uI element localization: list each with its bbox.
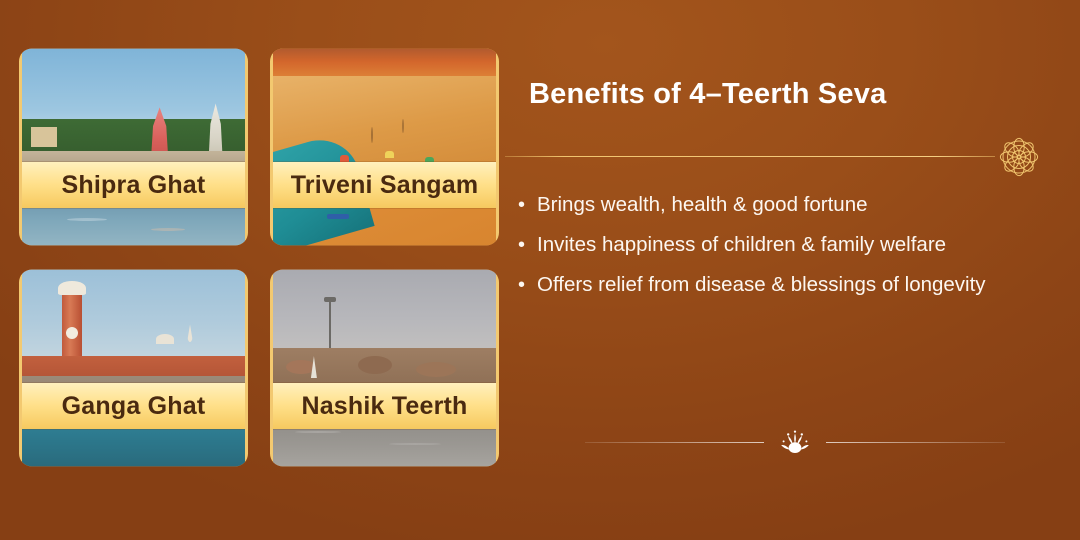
benefit-text: Invites happiness of children & family w…	[537, 225, 1048, 265]
card-caption-label: Ganga Ghat	[62, 394, 206, 419]
tent-shape	[385, 151, 394, 158]
benefits-list: • Brings wealth, health & good fortune •…	[518, 185, 1048, 305]
card-clip: Ganga Ghat	[22, 269, 245, 467]
bullet-marker-icon: •	[518, 265, 537, 305]
page-title: Benefits of 4–Teerth Seva	[529, 78, 886, 111]
benefit-text: Offers relief from disease & blessings o…	[537, 265, 1048, 305]
benefit-item: • Offers relief from disease & blessings…	[518, 265, 1048, 305]
boat-shape	[327, 214, 349, 219]
tent-shape	[340, 155, 349, 162]
light-pole	[329, 301, 331, 349]
slide-root: Shipra Ghat	[0, 0, 1080, 540]
card-caption-label: Triveni Sangam	[291, 173, 479, 198]
photo-ganga-ghat	[22, 269, 245, 467]
sky-layer	[22, 269, 245, 360]
river-water	[22, 429, 245, 467]
title-divider-line	[505, 156, 995, 157]
content-panel: Benefits of 4–Teerth Seva	[505, 0, 1080, 540]
benefit-item: • Brings wealth, health & good fortune	[518, 185, 1048, 225]
building-block	[31, 127, 57, 147]
divider-line-left	[585, 442, 764, 443]
gallery-card-nashik-teerth[interactable]: Nashik Teerth	[270, 266, 499, 470]
photo-nashik-teerth	[273, 269, 496, 467]
lotus-icon	[774, 427, 816, 457]
card-caption: Nashik Teerth	[273, 383, 496, 429]
card-clip: Shipra Ghat	[22, 48, 245, 246]
photo-shipra-ghat	[22, 48, 245, 246]
card-clip: Triveni Sangam	[273, 48, 496, 246]
sky-layer	[273, 269, 496, 352]
mandala-rosette-icon	[994, 132, 1044, 182]
card-clip: Nashik Teerth	[273, 269, 496, 467]
divider-line-right	[826, 442, 1005, 443]
building-block	[358, 356, 392, 374]
card-caption-label: Nashik Teerth	[301, 394, 467, 419]
gallery-grid: Shipra Ghat	[19, 45, 499, 495]
benefit-item: • Invites happiness of children & family…	[518, 225, 1048, 265]
gallery-card-ganga-ghat[interactable]: Ganga Ghat	[19, 266, 248, 470]
clock-tower	[62, 293, 82, 365]
bullet-marker-icon: •	[518, 185, 537, 225]
card-caption-label: Shipra Ghat	[62, 173, 206, 198]
photo-triveni-sangam	[273, 48, 496, 246]
card-caption: Triveni Sangam	[273, 162, 496, 208]
gallery-card-shipra-ghat[interactable]: Shipra Ghat	[19, 45, 248, 249]
card-caption: Ganga Ghat	[22, 383, 245, 429]
temple-dome	[156, 334, 174, 344]
bullet-marker-icon: •	[518, 225, 537, 265]
building-block	[416, 362, 456, 377]
benefit-text: Brings wealth, health & good fortune	[537, 185, 1048, 225]
card-caption: Shipra Ghat	[22, 162, 245, 208]
footer-divider	[585, 422, 1005, 462]
gallery-card-triveni-sangam[interactable]: Triveni Sangam	[270, 45, 499, 249]
